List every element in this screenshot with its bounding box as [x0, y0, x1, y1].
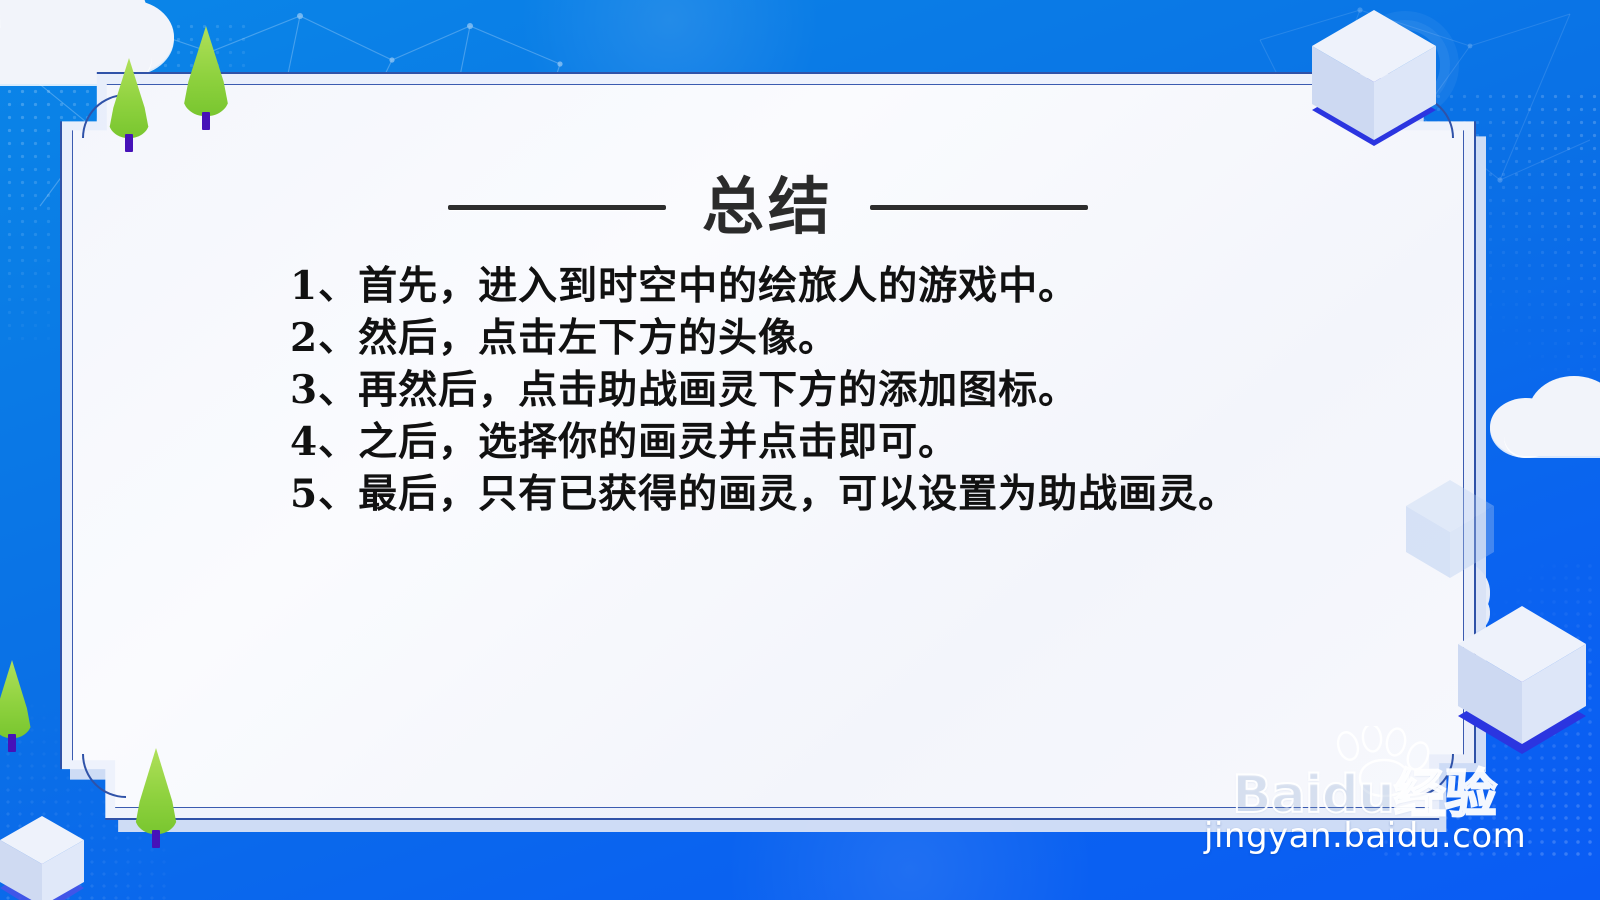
isometric-cube-icon — [0, 806, 96, 900]
list-item: 2、然后，点击左下方的头像。 — [290, 312, 1300, 364]
content-panel: 总结 1、首先，进入到时空中的绘旅人的游戏中。 2、然后，点击左下方的头像。 3… — [60, 72, 1476, 820]
isometric-cube-icon — [1294, 0, 1454, 164]
cloud-icon — [1490, 372, 1600, 462]
title-rule-left-icon — [448, 205, 666, 210]
corner-notch-bottom-left — [82, 754, 126, 798]
summary-step-list: 1、首先，进入到时空中的绘旅人的游戏中。 2、然后，点击左下方的头像。 3、再然… — [290, 260, 1300, 520]
list-item: 3、再然后，点击助战画灵下方的添加图标。 — [290, 364, 1300, 416]
page-title-row: 总结 — [60, 176, 1476, 238]
list-item: 4、之后，选择你的画灵并点击即可。 — [290, 416, 1300, 468]
list-item: 5、最后，只有已获得的画灵，可以设置为助战画灵。 — [290, 468, 1300, 520]
list-item: 1、首先，进入到时空中的绘旅人的游戏中。 — [290, 260, 1300, 312]
title-rule-right-icon — [870, 205, 1088, 210]
page-title: 总结 — [702, 176, 834, 238]
pine-tree-icon — [106, 58, 152, 150]
pine-tree-icon — [132, 748, 180, 848]
pine-tree-icon — [180, 26, 232, 130]
isometric-cube-icon — [1436, 586, 1600, 776]
pine-tree-icon — [0, 660, 34, 750]
slide-canvas: 总结 1、首先，进入到时空中的绘旅人的游戏中。 2、然后，点击左下方的头像。 3… — [0, 0, 1600, 900]
isometric-cube-icon — [1390, 468, 1510, 598]
